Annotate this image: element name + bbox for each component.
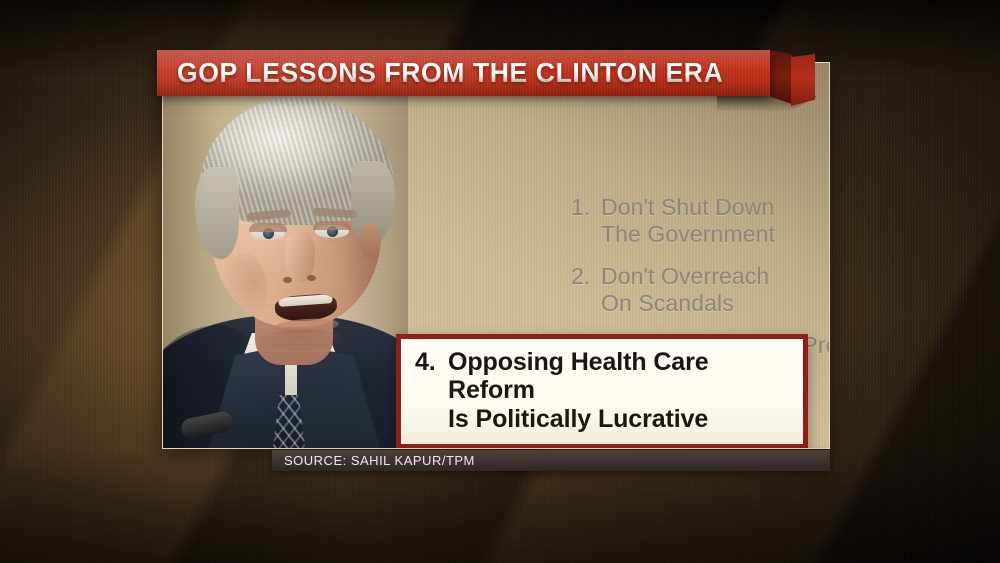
highlighted-list-item: 4. Opposing Health Care ReformIs Politic… — [396, 334, 808, 449]
list-item-number: 2. — [571, 263, 601, 290]
source-bar: SOURCE: SAHIL KAPUR/TPM — [272, 450, 830, 471]
source-label: SOURCE: SAHIL KAPUR/TPM — [284, 453, 475, 468]
list-item-label: Don't OverreachOn Scandals — [601, 263, 830, 317]
content-panel: 1. Don't Shut DownThe Government 2. Don'… — [162, 62, 830, 449]
list-item-number: 1. — [571, 194, 601, 221]
list-item-label: Don't Shut DownThe Government — [601, 194, 830, 248]
highlighted-item-line1: Opposing Health Care Reform — [448, 348, 709, 404]
clinton-portrait-photo — [163, 63, 408, 449]
list-item: 2. Don't OverreachOn Scandals — [571, 263, 830, 317]
highlighted-item-line2: Is Politically Lucrative — [448, 405, 793, 433]
title-ribbon: GOP LESSONS FROM THE CLINTON ERA — [157, 50, 770, 96]
list-item: 1. Don't Shut DownThe Government — [571, 194, 830, 248]
page-title: GOP LESSONS FROM THE CLINTON ERA — [177, 59, 723, 87]
ribbon-fold-front — [791, 54, 815, 106]
photo-scanlines — [163, 63, 408, 449]
list-item-line2: On Scandals — [601, 290, 830, 317]
list-item-line2: The Government — [601, 221, 830, 248]
list-item-line1: Don't Overreach — [601, 263, 769, 289]
highlighted-item-label: Opposing Health Care ReformIs Politicall… — [448, 348, 793, 433]
highlighted-item-number: 4. — [415, 348, 448, 376]
ribbon-fold-back — [770, 50, 792, 104]
highlighted-item-row: 4. Opposing Health Care ReformIs Politic… — [415, 348, 793, 433]
broadcast-graphic-stage: 1. Don't Shut DownThe Government 2. Don'… — [0, 0, 1000, 563]
list-item-line1: Don't Shut Down — [601, 194, 774, 220]
